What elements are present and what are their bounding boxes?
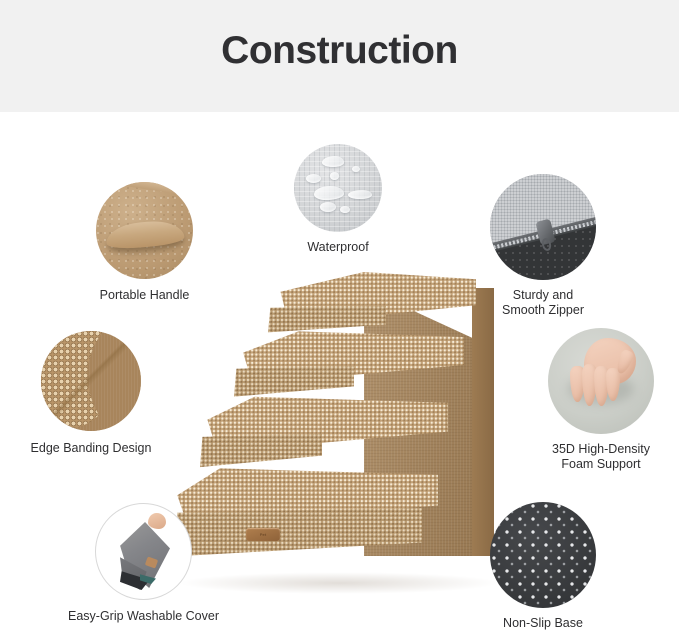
water-droplet [322, 156, 344, 167]
dotted-grip-base-icon [490, 502, 596, 608]
edge-banding-seam [41, 331, 141, 431]
hand-pressing-foam-icon [548, 328, 654, 434]
product-pet-stairs: Pet [172, 262, 508, 592]
water-droplets-icon [294, 144, 382, 232]
feature-portable-handle[interactable]: Portable Handle [96, 182, 193, 279]
fabric-handle-strap-icon [96, 182, 193, 279]
zipper-icon [490, 174, 596, 280]
feature-label-line-2: Smooth Zipper [502, 303, 584, 318]
feature-label-foam-support: 35D High-Density Foam Support [552, 442, 650, 472]
feature-label-edge-banding-design: Edge Banding Design [31, 441, 152, 456]
feature-easy-grip-washable-cover[interactable]: Easy-Grip Washable Cover [95, 503, 192, 600]
feature-label-portable-handle: Portable Handle [100, 288, 190, 303]
brand-tag-text: Pet [246, 528, 280, 541]
water-droplet [352, 166, 360, 172]
feature-foam-support[interactable]: 35D High-Density Foam Support [548, 328, 654, 434]
water-droplet [330, 172, 339, 180]
feature-waterproof[interactable]: Waterproof [294, 144, 382, 232]
feature-non-slip-base[interactable]: Non-Slip Base [490, 502, 596, 608]
water-droplet [306, 174, 321, 183]
feature-label-line-1: Sturdy and [502, 288, 584, 303]
feature-diagram-stage: Pet Portable Handle Waterproof [0, 112, 679, 627]
feature-label-line-1: 35D High-Density [552, 442, 650, 457]
water-droplet [348, 190, 372, 199]
product-step-2-riser [200, 434, 322, 470]
feature-label-line-2: Foam Support [552, 457, 650, 472]
edge-banding-icon [41, 331, 141, 431]
product-step-3-riser [234, 366, 354, 400]
feature-label-sturdy-smooth-zipper: Sturdy and Smooth Zipper [502, 288, 584, 318]
feature-sturdy-smooth-zipper[interactable]: Sturdy and Smooth Zipper [490, 174, 596, 280]
product-brand-tag: Pet [246, 528, 280, 541]
water-droplet [340, 206, 350, 213]
hand-pinching-cover [148, 513, 166, 529]
feature-label-easy-grip-washable-cover: Easy-Grip Washable Cover [68, 609, 219, 624]
feature-edge-banding-design[interactable]: Edge Banding Design [41, 331, 141, 431]
feature-label-non-slip-base: Non-Slip Base [503, 616, 583, 631]
water-droplet [320, 202, 336, 212]
grip-dots-secondary [490, 502, 596, 608]
page-title: Construction [0, 29, 679, 73]
lifted-cloth-cover-icon [95, 503, 192, 600]
feature-label-waterproof: Waterproof [307, 240, 368, 255]
